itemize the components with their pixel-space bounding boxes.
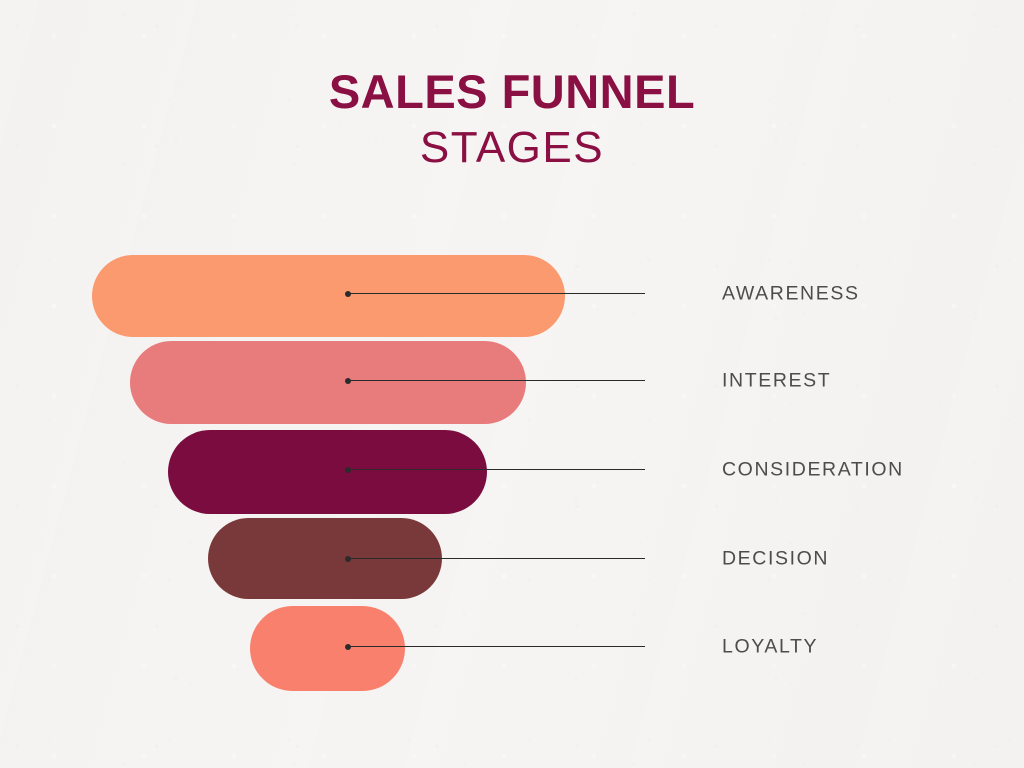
- stage-label-loyalty[interactable]: LOYALTY: [722, 636, 818, 659]
- stage-label-decision[interactable]: DECISION: [722, 548, 829, 571]
- leader-dot-loyalty: [345, 644, 351, 650]
- leader-dot-consideration: [345, 467, 351, 473]
- leader-line-awareness: [348, 293, 645, 294]
- leader-line-decision: [348, 558, 645, 559]
- leader-line-interest: [348, 380, 645, 381]
- stage-label-awareness[interactable]: AWARENESS: [722, 283, 860, 306]
- stage-label-consideration[interactable]: CONSIDERATION: [722, 459, 904, 482]
- leader-dot-decision: [345, 556, 351, 562]
- leader-dot-awareness: [345, 291, 351, 297]
- leader-dot-interest: [345, 378, 351, 384]
- funnel-bar-interest[interactable]: [130, 341, 526, 424]
- funnel-bar-loyalty[interactable]: [250, 606, 405, 691]
- funnel-infographic-canvas: SALES FUNNEL STAGES AWARENESS INTEREST C…: [0, 0, 1024, 768]
- stage-label-interest[interactable]: INTEREST: [722, 370, 831, 393]
- funnel-bar-awareness[interactable]: [92, 255, 565, 337]
- funnel-chart: [0, 0, 1024, 768]
- leader-line-consideration: [348, 469, 645, 470]
- leader-line-loyalty: [348, 646, 645, 647]
- funnel-bar-consideration[interactable]: [168, 430, 487, 514]
